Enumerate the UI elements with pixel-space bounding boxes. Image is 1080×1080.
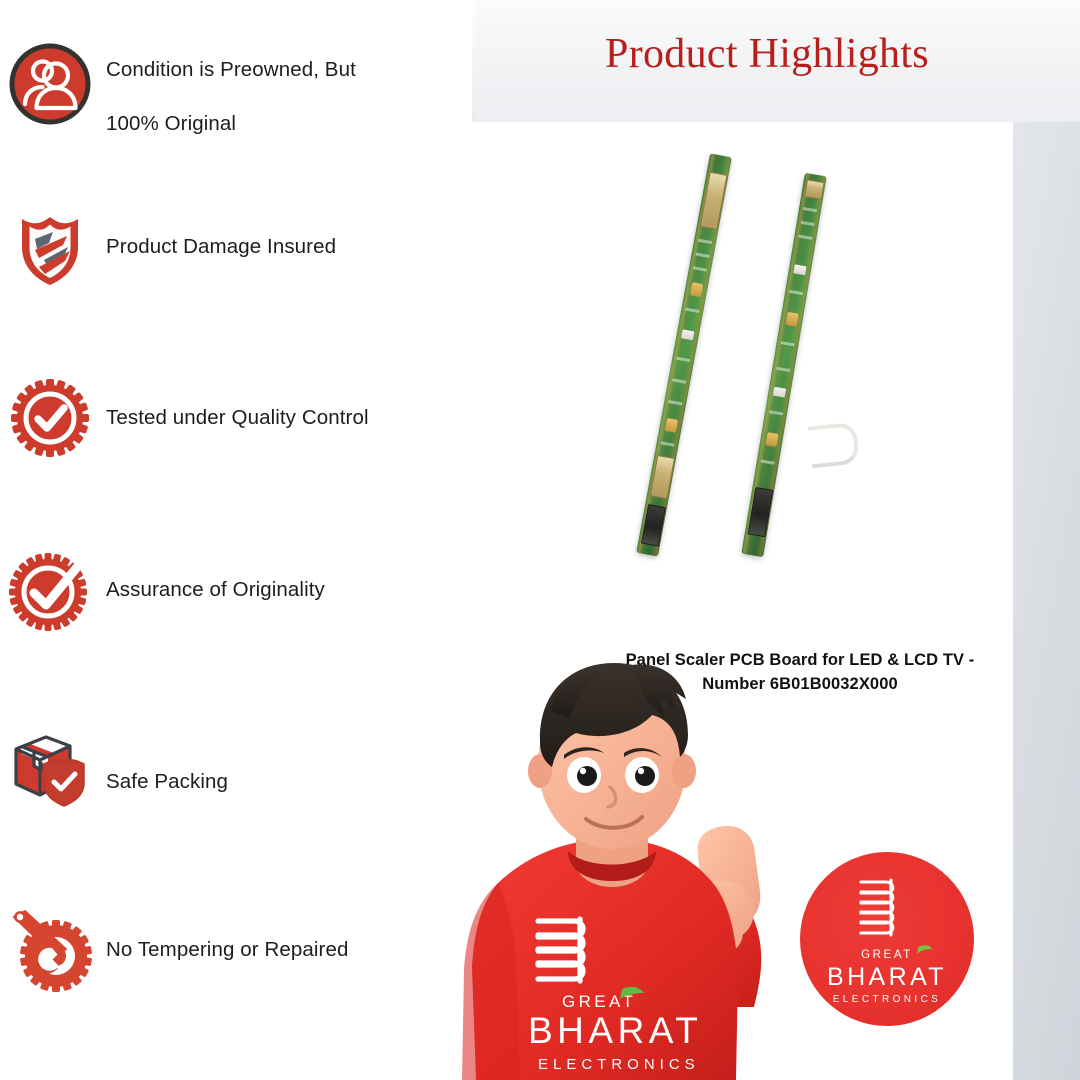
badge-check-icon	[8, 376, 92, 460]
feature-item-insured: Product Damage Insured	[8, 205, 448, 289]
feature-label: Assurance of Originality	[106, 576, 325, 604]
shield-stripes-icon	[8, 205, 92, 289]
pcb-chip	[681, 329, 694, 340]
pcb-board-left	[636, 153, 732, 556]
feature-label: Tested under Quality Control	[106, 404, 369, 432]
badge-bharat-text: BHARAT	[827, 963, 947, 991]
pcb-solder-pad	[766, 432, 779, 447]
pcb-solder-pad	[690, 282, 703, 297]
shirt-logo-electronics: ELECTRONICS	[538, 1056, 700, 1073]
pcb-ribbon-wire	[808, 422, 860, 469]
box-shield-icon	[8, 725, 92, 809]
pcb-board-right	[741, 173, 826, 557]
brand-logo-badge: GREAT BHARAT ELECTRONICS	[800, 852, 974, 1026]
pcb-chip	[793, 264, 806, 275]
page-title: Product Highlights	[472, 28, 1062, 80]
pcb-solder-pad	[665, 418, 678, 433]
infographic-canvas: Product Highlights Condition is Preowned…	[0, 0, 1080, 1080]
seal-check-icon	[8, 548, 92, 632]
pcb-solder-pad	[786, 312, 799, 327]
feature-label-line1: Condition is Preowned, But	[106, 56, 356, 84]
b-monogram-icon	[861, 880, 893, 935]
shirt-logo-bharat: BHARAT	[528, 1010, 702, 1051]
feature-label: Safe Packing	[106, 768, 228, 796]
pointing-mascot-illustration: GREAT BHARAT ELECTRONICS	[380, 615, 850, 1080]
feature-label-line2: 100% Original	[106, 110, 356, 138]
pcb-connector	[804, 179, 825, 200]
pcb-boards-photo	[625, 140, 875, 580]
badge-electronics-text: ELECTRONICS	[833, 994, 942, 1005]
feature-item-condition: Condition is Preowned, But 100% Original	[8, 30, 448, 138]
feature-label: No Tempering or Repaired	[106, 936, 348, 964]
feature-item-quality: Tested under Quality Control	[8, 376, 448, 460]
badge-great-text: GREAT	[861, 949, 913, 961]
feature-label: Condition is Preowned, But 100% Original	[106, 30, 356, 138]
leaf-icon	[917, 945, 932, 954]
pcb-chip	[773, 387, 786, 398]
feature-label: Product Damage Insured	[106, 233, 336, 261]
people-icon	[8, 42, 92, 126]
gear-wrench-icon	[8, 908, 92, 992]
